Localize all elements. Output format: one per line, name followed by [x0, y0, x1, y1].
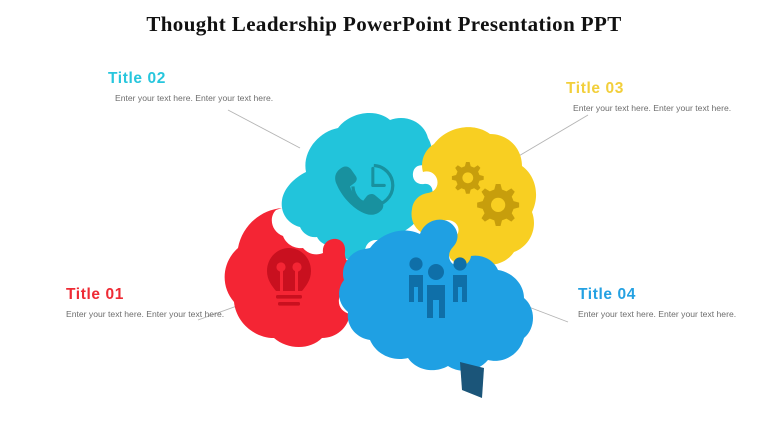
brainstem [460, 362, 484, 398]
callout-03-body: Enter your text here. Enter your text he… [566, 102, 741, 114]
callout-04-body: Enter your text here. Enter your text he… [578, 308, 753, 320]
callout-01-title: Title 01 [66, 286, 241, 303]
callout-03-title: Title 03 [566, 80, 741, 97]
callout-03: Title 03 Enter your text here. Enter you… [566, 80, 741, 114]
callout-02-body: Enter your text here. Enter your text he… [108, 92, 283, 104]
callout-02-title: Title 02 [108, 70, 283, 87]
callout-01-body: Enter your text here. Enter your text he… [66, 308, 241, 320]
callout-04: Title 04 Enter your text here. Enter you… [578, 286, 753, 320]
callout-01: Title 01 Enter your text here. Enter you… [66, 286, 241, 320]
callout-04-title: Title 04 [578, 286, 753, 303]
callout-02: Title 02 Enter your text here. Enter you… [108, 70, 283, 104]
slide-canvas: Thought Leadership PowerPoint Presentati… [0, 0, 768, 432]
brain-puzzle-diagram [210, 100, 560, 400]
page-title: Thought Leadership PowerPoint Presentati… [0, 12, 768, 37]
